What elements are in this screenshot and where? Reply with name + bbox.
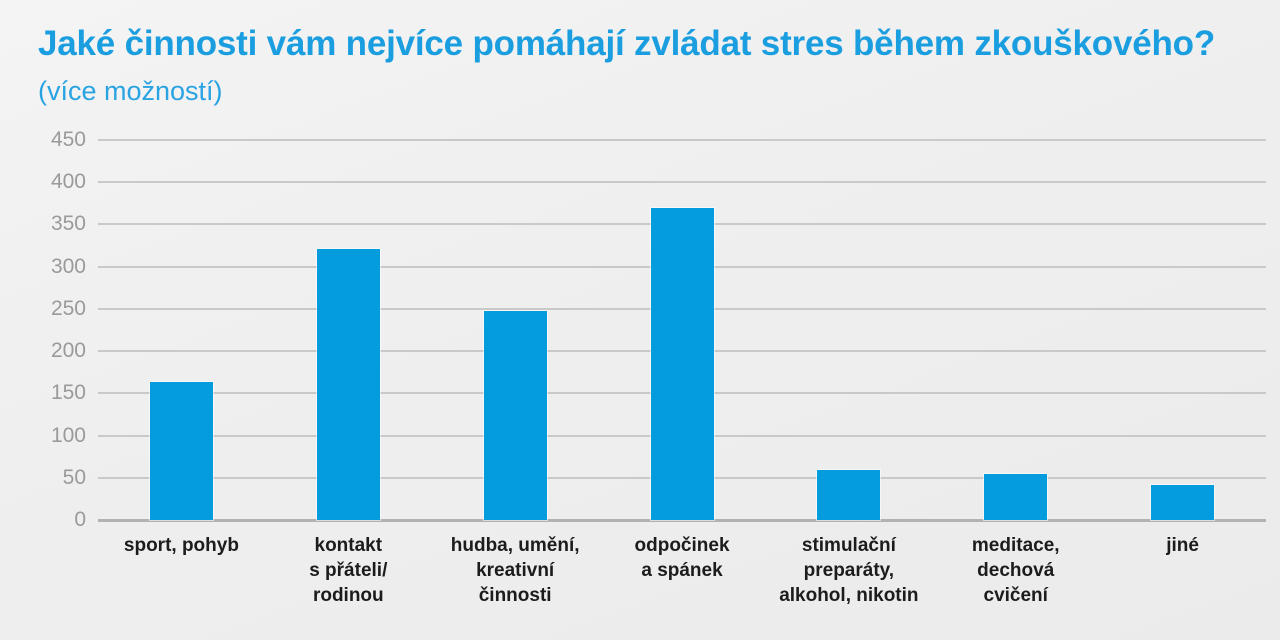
y-axis-tick-label: 200: [0, 339, 86, 363]
y-axis-tick-label: 350: [0, 212, 86, 236]
bar[interactable]: [317, 249, 380, 520]
plot-area: 450400350300250200150100500: [0, 140, 1280, 540]
bar-slot: [1099, 140, 1266, 520]
chart-title-main: Jaké činnosti vám nejvíce pomáhají zvlád…: [38, 24, 1215, 63]
bars-container: [98, 140, 1266, 520]
bar[interactable]: [484, 311, 547, 520]
x-axis-category-label-line: s přáteli/: [269, 558, 428, 583]
x-axis-category-label-line: a spánek: [603, 558, 762, 583]
x-axis-category-label-line: cvičení: [936, 583, 1095, 608]
x-axis-category-label-line: činnosti: [436, 583, 595, 608]
x-axis-category-label-line: dechová: [936, 558, 1095, 583]
bar[interactable]: [817, 470, 880, 520]
chart-title: Jaké činnosti vám nejvíce pomáhají zvlád…: [38, 22, 1238, 112]
x-axis-category-label: jiné: [1099, 533, 1266, 608]
bar[interactable]: [150, 382, 213, 520]
y-axis-tick-label: 0: [0, 508, 86, 532]
y-axis: 450400350300250200150100500: [0, 140, 86, 520]
x-axis-category-label-line: odpočinek: [603, 533, 762, 558]
x-axis-category-label-line: jiné: [1103, 533, 1262, 558]
y-axis-tick-label: 250: [0, 297, 86, 321]
x-axis-category-label: sport, pohyb: [98, 533, 265, 608]
bar-chart-figure: Jaké činnosti vám nejvíce pomáhají zvlád…: [0, 0, 1280, 640]
x-axis-category-label: odpočineka spánek: [599, 533, 766, 608]
x-axis-category-label-line: meditace,: [936, 533, 1095, 558]
y-axis-tick-label: 450: [0, 128, 86, 152]
y-axis-tick-label: 50: [0, 466, 86, 490]
y-axis-tick-label: 400: [0, 170, 86, 194]
x-axis-category-label-line: hudba, umění,: [436, 533, 595, 558]
x-axis-category-label-line: kontakt: [269, 533, 428, 558]
chart-title-text: Jaké činnosti vám nejvíce pomáhají zvlád…: [38, 22, 1238, 112]
x-axis-category-label: meditace,dechovácvičení: [932, 533, 1099, 608]
x-axis-category-label: stimulačnípreparáty,alkohol, nikotin: [765, 533, 932, 608]
x-axis-category-label-line: stimulační: [769, 533, 928, 558]
bar-slot: [932, 140, 1099, 520]
x-axis-category-label-line: sport, pohyb: [102, 533, 261, 558]
x-axis-category-labels: sport, pohybkontakts přáteli/rodinouhudb…: [98, 533, 1266, 608]
x-axis-category-label-line: alkohol, nikotin: [769, 583, 928, 608]
bar[interactable]: [651, 208, 714, 520]
y-axis-tick-label: 100: [0, 424, 86, 448]
x-axis-category-label-line: preparáty,: [769, 558, 928, 583]
x-axis-category-label: kontakts přáteli/rodinou: [265, 533, 432, 608]
x-axis-category-label-line: rodinou: [269, 583, 428, 608]
bar[interactable]: [984, 474, 1047, 520]
bar-slot: [265, 140, 432, 520]
bar-slot: [432, 140, 599, 520]
x-axis-category-label: hudba, umění,kreativníčinnosti: [432, 533, 599, 608]
chart-title-note: (více možností): [38, 76, 223, 106]
bar-slot: [765, 140, 932, 520]
x-axis-category-label-line: kreativní: [436, 558, 595, 583]
bar[interactable]: [1151, 485, 1214, 520]
bar-slot: [599, 140, 766, 520]
bar-slot: [98, 140, 265, 520]
y-axis-tick-label: 150: [0, 381, 86, 405]
y-axis-tick-label: 300: [0, 255, 86, 279]
